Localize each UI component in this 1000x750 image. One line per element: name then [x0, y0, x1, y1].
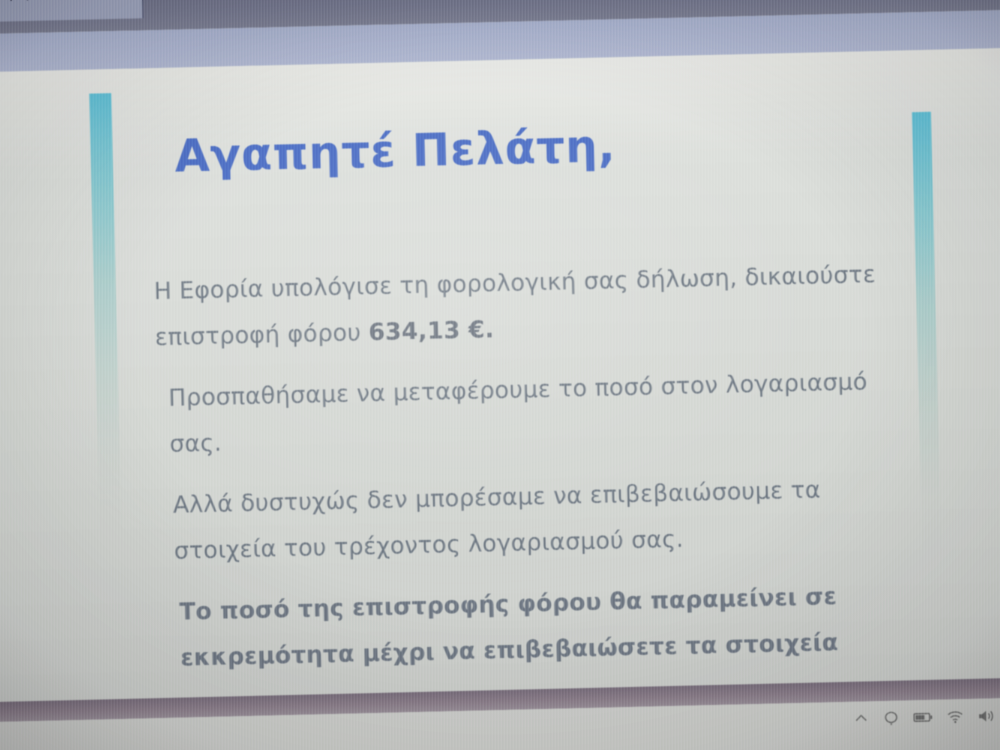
battery-icon[interactable] [913, 706, 934, 728]
browser-tab[interactable]: ιδούμητού [0, 0, 143, 22]
show-hidden-icons-icon[interactable] [853, 707, 870, 729]
refund-amount-value: 634,13 €. [368, 315, 494, 346]
paragraph-refund-text: Η Εφορία υπολόγισε τη φορολογική σας δήλ… [154, 260, 876, 352]
paragraph-refund-amount: Η Εφορία υπολόγισε τη φορολογική σας δήλ… [153, 250, 895, 360]
message-content: Αγαπητέ Πελάτη, Η Εφορία υπολόγισε τη φο… [150, 115, 904, 703]
volume-icon[interactable] [977, 704, 997, 726]
system-tray: EΛ [853, 704, 1000, 730]
monitor-screen: ιδούμητού Αγαπητέ Πελάτη, Η Εφορία υπολό… [0, 0, 1000, 750]
screen-photo: ιδούμητού Αγαπητέ Πελάτη, Η Εφορία υπολό… [0, 0, 1000, 750]
wifi-icon[interactable] [946, 705, 965, 727]
paragraph-transfer-attempt: Προσπαθήσαμε να μεταφέρουμε το ποσό στον… [168, 357, 898, 467]
page-viewport: Αγαπητέ Πελάτη, Η Εφορία υπολόγισε τη φο… [0, 48, 1000, 703]
onedrive-icon[interactable] [882, 707, 901, 729]
paragraph-verification-failed: Αλλά δυστυχώς δεν μπορέσαμε να επιβεβαιώ… [172, 464, 900, 574]
browser-tab-label: ιδούμητού [0, 0, 59, 2]
